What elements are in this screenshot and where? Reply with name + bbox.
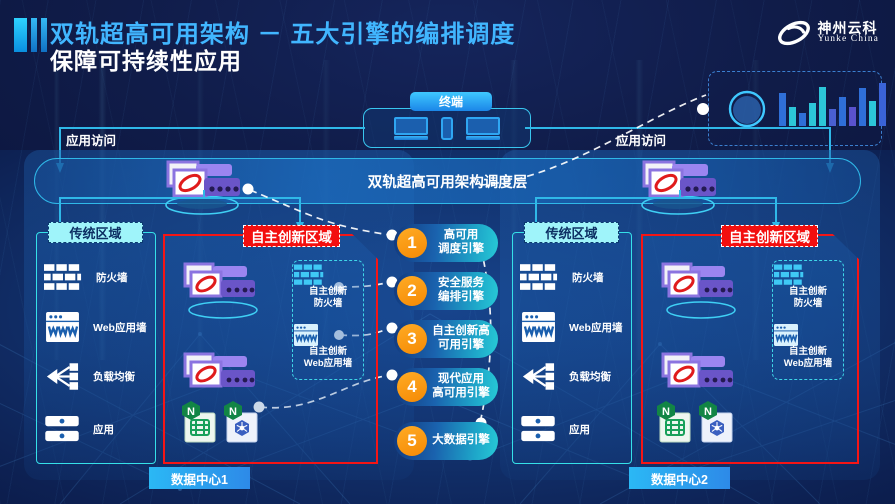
logo-name-en: Yunke China [818,35,879,45]
svg-text:N: N [662,406,670,418]
engine-1-label-line1: 高可用 [444,229,479,241]
dc1-sub-waf-label-2: Web应用墙 [304,358,352,369]
dc1-service-label: 负载均衡 [93,369,135,384]
firewall-icon [520,264,558,291]
logo-mark-icon [777,20,811,46]
dc2-sub-firewall-label-2: 防火墙 [794,298,823,309]
engine-2-label-line2: 编排引擎 [438,291,484,303]
terminal-tag: 终端 [410,92,492,111]
company-logo: 神州云科 Yunke China [777,20,879,46]
dc1-innovation-server-2 [175,352,275,398]
access-label-left: 应用访问 [66,130,116,149]
header-bar: 双轨超高可用架构 － 五大引擎的编排调度 保障可持续性应用 神州云科 Yunke… [0,0,895,72]
dc1-service-app: 应用 [45,416,114,442]
dc2-sub-firewall: 自主创新 防火墙 [774,264,842,310]
firewall-icon [44,264,82,291]
dc1-sub-waf: 自主创新 Web应用墙 [294,324,362,370]
engine-4[interactable]: 4 现代应用 高可用引擎 [394,368,498,406]
engine-1-label: 高可用 调度引擎 [427,229,498,257]
application-icon [45,416,79,442]
slide-canvas: 双轨超高可用架构 － 五大引擎的编排调度 保障可持续性应用 神州云科 Yunke… [0,0,895,504]
dc2-innovation-zone-tag: 自主创新区域 [721,225,818,247]
engine-2[interactable]: 2 安全服务 编排引擎 [394,272,498,310]
accent-bar-thin-1 [31,18,37,52]
dc2-traditional-zone-tag: 传统区域 [524,222,619,243]
engine-2-label: 安全服务 编排引擎 [427,277,498,305]
engine-4-label: 现代应用 高可用引擎 [427,373,498,401]
engine-1-number: 1 [397,228,427,258]
dc1-service-label: 防火墙 [96,270,128,285]
engine-3-label: 自主创新高 可用引擎 [427,325,498,353]
dc1-service-label: 应用 [93,422,114,437]
dc2-service-firewall: 防火墙 [520,264,604,291]
firewall-icon [774,264,804,286]
engine-3-number: 3 [397,324,427,354]
dc2-service-waf: Web应用墙 [522,312,622,342]
dc2-innovation-server-2 [653,352,753,398]
engine-4-label-line1: 现代应用 [438,373,484,385]
svg-text:N: N [187,406,195,418]
svg-text:N: N [704,406,712,418]
engine-2-label-line1: 安全服务 [438,277,484,289]
dc1-service-label: Web应用墙 [93,320,146,335]
engine-2-number: 2 [397,276,427,306]
dc2-sub-waf-label-2: Web应用墙 [784,358,832,369]
waf-icon [294,324,318,346]
dc2-service-label: 负载均衡 [569,369,611,384]
accent-bar-wide [14,18,27,52]
dc2-service-label: Web应用墙 [569,320,622,335]
waf-icon [46,312,79,342]
dc1-service-firewall: 防火墙 [44,264,128,291]
engine-4-label-line2: 高可用引擎 [432,387,490,399]
accent-bar-thin-2 [41,18,47,52]
engine-3-label-line2: 可用引擎 [438,339,484,351]
engine-5-number: 5 [397,426,427,456]
load-balancer-icon [521,362,555,391]
engine-4-number: 4 [397,372,427,402]
dc1-service-lb: 负载均衡 [45,362,135,391]
logo-name-cn: 神州云科 [818,21,879,36]
dc1-sub-firewall-label-1: 自主创新 [309,286,347,297]
dc1-sub-waf-label-1: 自主创新 [309,346,347,357]
dc2-innovation-server-1 [653,262,753,318]
dc1-node-nginx-k8s: N [222,400,260,444]
nginx-app-icon: N [655,400,693,444]
datacenter-1-tag: 数据中心1 [149,467,250,489]
dc1-service-waf: Web应用墙 [46,312,146,342]
dc1-traditional-zone-tag: 传统区域 [48,222,143,243]
page-title-secondary: 保障可持续性应用 [50,42,242,76]
dc2-sub-waf-label-1: 自主创新 [789,346,827,357]
dc2-sub-firewall-label-1: 自主创新 [789,286,827,297]
nginx-kubernetes-icon: N [222,400,260,444]
engine-5-label: 大数据引擎 [427,434,498,448]
nginx-app-icon: N [180,400,218,444]
nginx-kubernetes-icon: N [697,400,735,444]
title-accent-bars [14,18,47,52]
dc2-node-nginx-k8s: N [697,400,735,444]
dc2-sub-waf: 自主创新 Web应用墙 [774,324,842,370]
scheduling-layer-label: 双轨超高可用架构调度层 [0,171,895,192]
svg-text:N: N [229,406,237,418]
engine-3-label-line1: 自主创新高 [432,325,490,337]
dc1-innovation-zone-tag: 自主创新区域 [243,225,340,247]
waf-icon [522,312,555,342]
dc1-node-nginx-app: N [180,400,218,444]
dc2-service-label: 应用 [569,422,590,437]
dc2-service-app: 应用 [521,416,590,442]
load-balancer-icon [45,362,79,391]
engine-1[interactable]: 1 高可用 调度引擎 [394,224,498,262]
engine-5[interactable]: 5 大数据引擎 [394,422,498,460]
dc2-node-nginx-app: N [655,400,693,444]
phone-icon [441,117,453,140]
application-icon [521,416,555,442]
waf-icon [774,324,798,346]
dc2-service-label: 防火墙 [572,270,604,285]
dc1-sub-firewall-label-2: 防火墙 [314,298,343,309]
engine-1-label-line2: 调度引擎 [438,243,484,255]
laptop-icon [394,117,428,140]
dc2-service-lb: 负载均衡 [521,362,611,391]
dc1-sub-firewall: 自主创新 防火墙 [294,264,362,310]
dc1-innovation-server-1 [175,262,275,318]
engine-3[interactable]: 3 自主创新高 可用引擎 [394,320,498,358]
firewall-icon [294,264,324,286]
datacenter-2-tag: 数据中心2 [629,467,730,489]
